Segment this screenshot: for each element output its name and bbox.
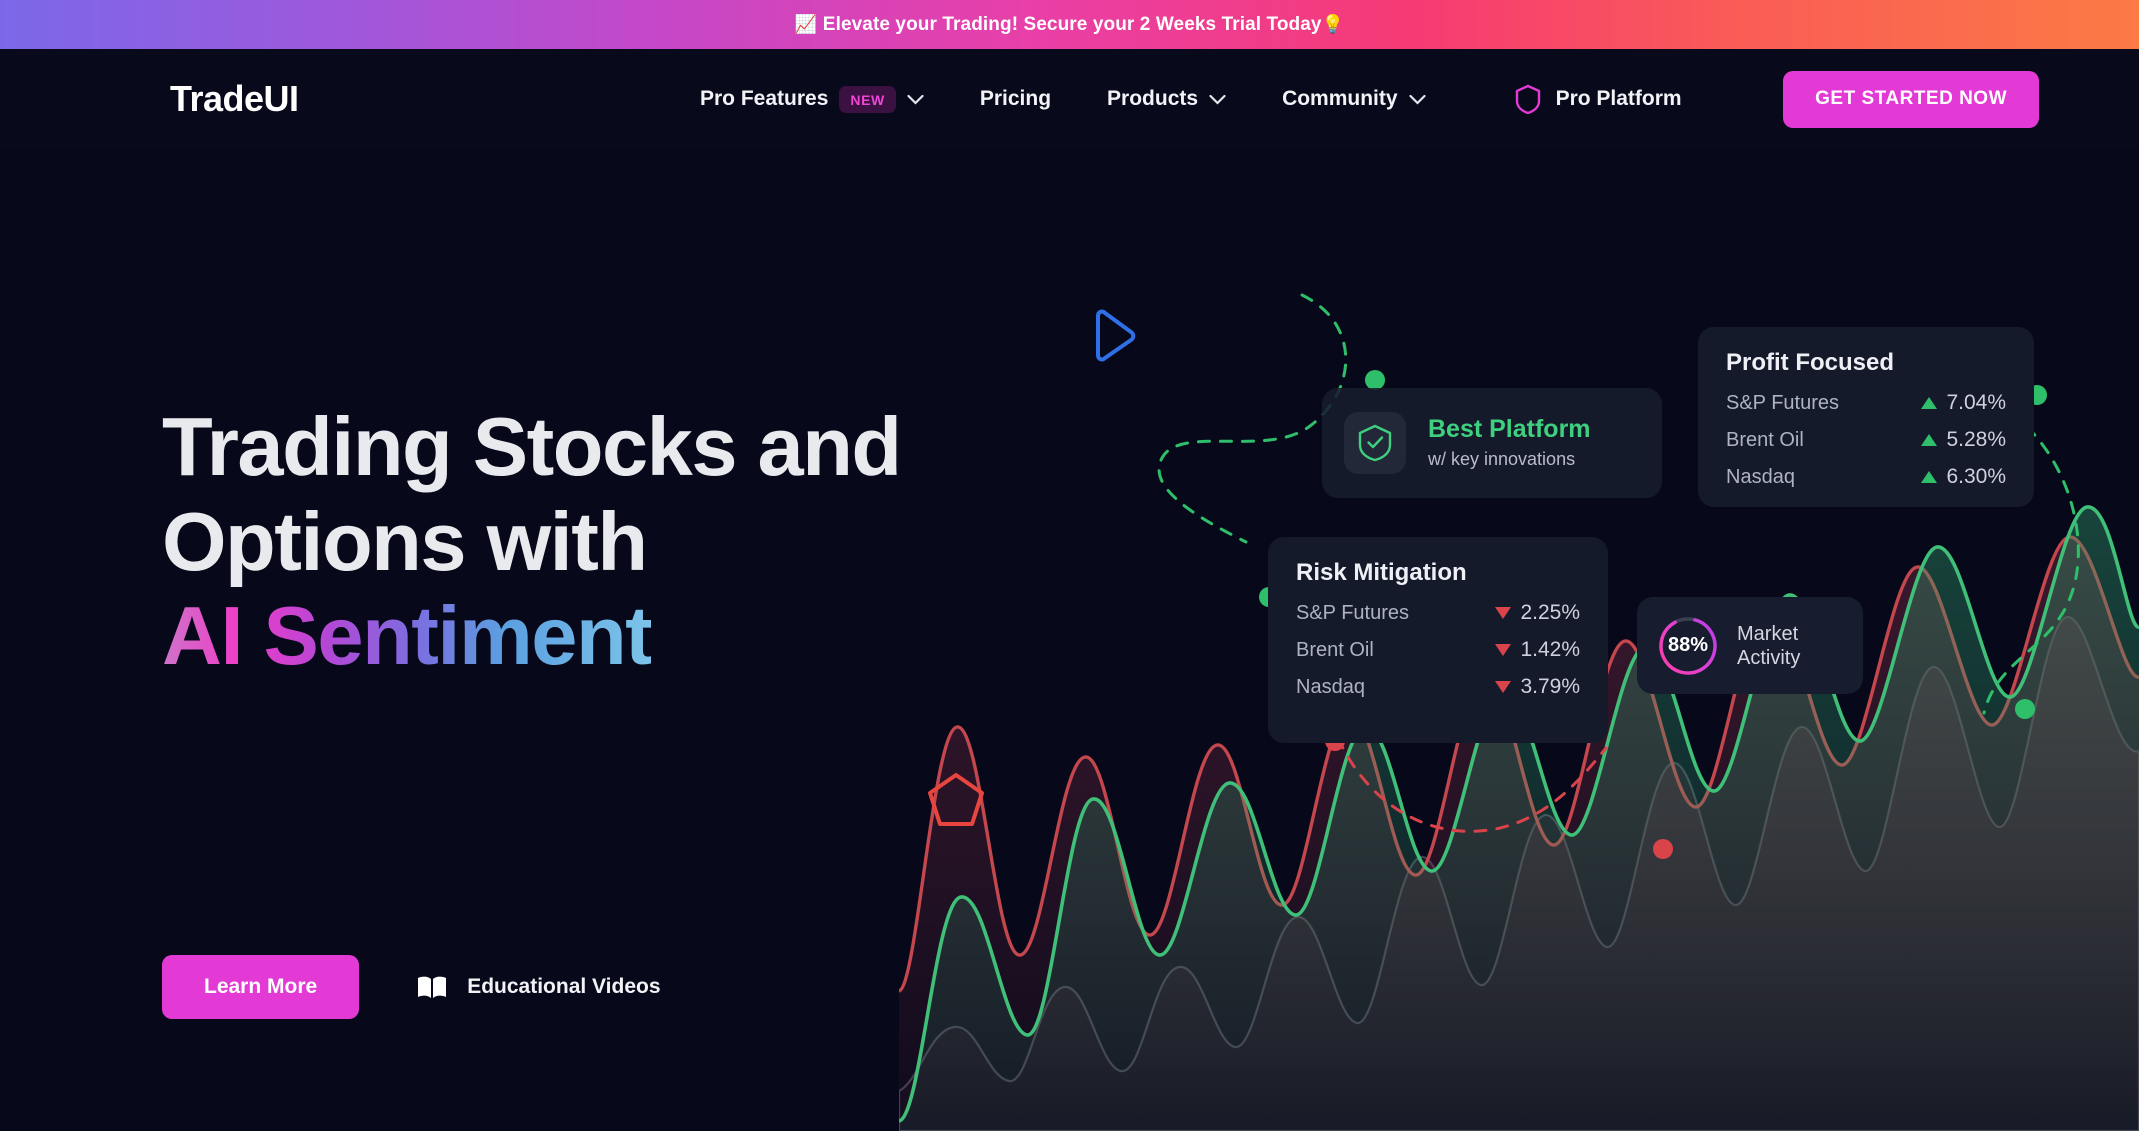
best-platform-card[interactable]: Best Platform w/ key innovations	[1322, 388, 1662, 498]
profit-focused-title: Profit Focused	[1726, 349, 2006, 377]
market-activity-label-line1: Market	[1737, 622, 1800, 646]
quote-value: 1.42%	[1495, 638, 1580, 662]
brand-logo[interactable]: TradeUI	[100, 74, 299, 124]
quote-name: Nasdaq	[1296, 676, 1365, 699]
educational-videos-link[interactable]: Educational Videos	[417, 975, 660, 999]
nav-item-pricing[interactable]: Pricing	[952, 87, 1079, 111]
risk-mitigation-title: Risk Mitigation	[1296, 559, 1580, 587]
nav-item-products[interactable]: Products	[1079, 87, 1254, 111]
tradeui-logo-icon	[100, 74, 156, 124]
quote-name: S&P Futures	[1296, 602, 1409, 625]
hero-line-1: Trading Stocks and	[162, 400, 901, 493]
quote-name: Brent Oil	[1726, 429, 1804, 452]
quote-row: Brent Oil 1.42%	[1296, 638, 1580, 662]
quote-percent: 6.30%	[1946, 465, 2006, 489]
triangle-down-icon	[1495, 607, 1511, 619]
new-badge: NEW	[839, 86, 895, 113]
profit-focused-card[interactable]: Profit Focused S&P Futures 7.04% Brent O…	[1698, 327, 2034, 507]
chevron-down-icon	[1209, 94, 1226, 105]
nav-item-community[interactable]: Community	[1254, 87, 1454, 111]
quote-percent: 5.28%	[1946, 428, 2006, 452]
nav-item-pro-features[interactable]: Pro Features NEW	[672, 86, 952, 113]
quote-name: S&P Futures	[1726, 392, 1839, 415]
market-activity-label-line2: Activity	[1737, 646, 1800, 670]
quote-value: 7.04%	[1921, 391, 2006, 415]
best-platform-title: Best Platform	[1428, 414, 1591, 445]
red-dashed-projection	[1318, 730, 1608, 870]
quote-row: Nasdaq 6.30%	[1726, 465, 2006, 489]
hero-line-2: Options with	[162, 495, 647, 588]
nav-label-products: Products	[1107, 87, 1198, 111]
quote-row: Brent Oil 5.28%	[1726, 428, 2006, 452]
best-platform-icon-box	[1344, 412, 1406, 474]
quote-value: 3.79%	[1495, 675, 1580, 699]
page-title: Trading Stocks and Options with AI Senti…	[162, 400, 1162, 684]
learn-more-button[interactable]: Learn More	[162, 955, 359, 1019]
quote-value: 2.25%	[1495, 601, 1580, 625]
red-marker-dot	[1650, 836, 1676, 862]
quote-row: S&P Futures 2.25%	[1296, 601, 1580, 625]
quote-row: S&P Futures 7.04%	[1726, 391, 2006, 415]
best-platform-text: Best Platform w/ key innovations	[1428, 414, 1591, 472]
best-platform-subtitle: w/ key innovations	[1428, 447, 1591, 471]
brand-name: TradeUI	[170, 78, 299, 120]
nav-label-pro-features: Pro Features	[700, 87, 828, 111]
triangle-down-icon	[1495, 681, 1511, 693]
quote-percent: 1.42%	[1520, 638, 1580, 662]
quote-name: Nasdaq	[1726, 466, 1795, 489]
quote-percent: 2.25%	[1520, 601, 1580, 625]
quote-row: Nasdaq 3.79%	[1296, 675, 1580, 699]
quote-name: Brent Oil	[1296, 639, 1374, 662]
chevron-down-icon	[907, 94, 924, 105]
quote-value: 6.30%	[1921, 465, 2006, 489]
shield-icon	[1514, 84, 1542, 114]
triangle-up-icon	[1921, 471, 1937, 483]
site-header: TradeUI Pro Features NEW Pricing Product…	[0, 49, 2139, 149]
risk-mitigation-card[interactable]: Risk Mitigation S&P Futures 2.25% Brent …	[1268, 537, 1608, 743]
market-activity-gauge: 88%	[1657, 615, 1719, 677]
quote-percent: 3.79%	[1520, 675, 1580, 699]
hero-accent-text: AI Sentiment	[162, 589, 651, 682]
quote-percent: 7.04%	[1946, 391, 2006, 415]
triangle-up-icon	[1921, 397, 1937, 409]
pentagon-icon	[925, 770, 987, 830]
triangle-down-icon	[1495, 644, 1511, 656]
quote-value: 5.28%	[1921, 428, 2006, 452]
educational-videos-label: Educational Videos	[467, 975, 660, 999]
market-activity-percent: 88%	[1657, 615, 1719, 677]
nav-label-pricing: Pricing	[980, 87, 1051, 111]
market-activity-card[interactable]: 88% Market Activity	[1637, 597, 1863, 694]
hero-section: Trading Stocks and Options with AI Senti…	[162, 400, 1162, 684]
triangle-up-icon	[1921, 434, 1937, 446]
shield-check-icon	[1357, 424, 1393, 462]
nav-item-pro-platform[interactable]: Pro Platform	[1454, 84, 1682, 114]
main-navigation: Pro Features NEW Pricing Products Commun…	[672, 84, 1682, 114]
green-marker-dot	[2012, 696, 2038, 722]
chevron-down-icon	[1409, 94, 1426, 105]
book-icon	[417, 975, 447, 999]
market-activity-label: Market Activity	[1737, 622, 1800, 670]
hero-actions: Learn More Educational Videos	[162, 955, 661, 1019]
nav-label-community: Community	[1282, 87, 1398, 111]
nav-label-pro-platform: Pro Platform	[1556, 87, 1682, 111]
play-triangle-icon	[1085, 308, 1141, 364]
get-started-button[interactable]: GET STARTED NOW	[1783, 71, 2039, 128]
